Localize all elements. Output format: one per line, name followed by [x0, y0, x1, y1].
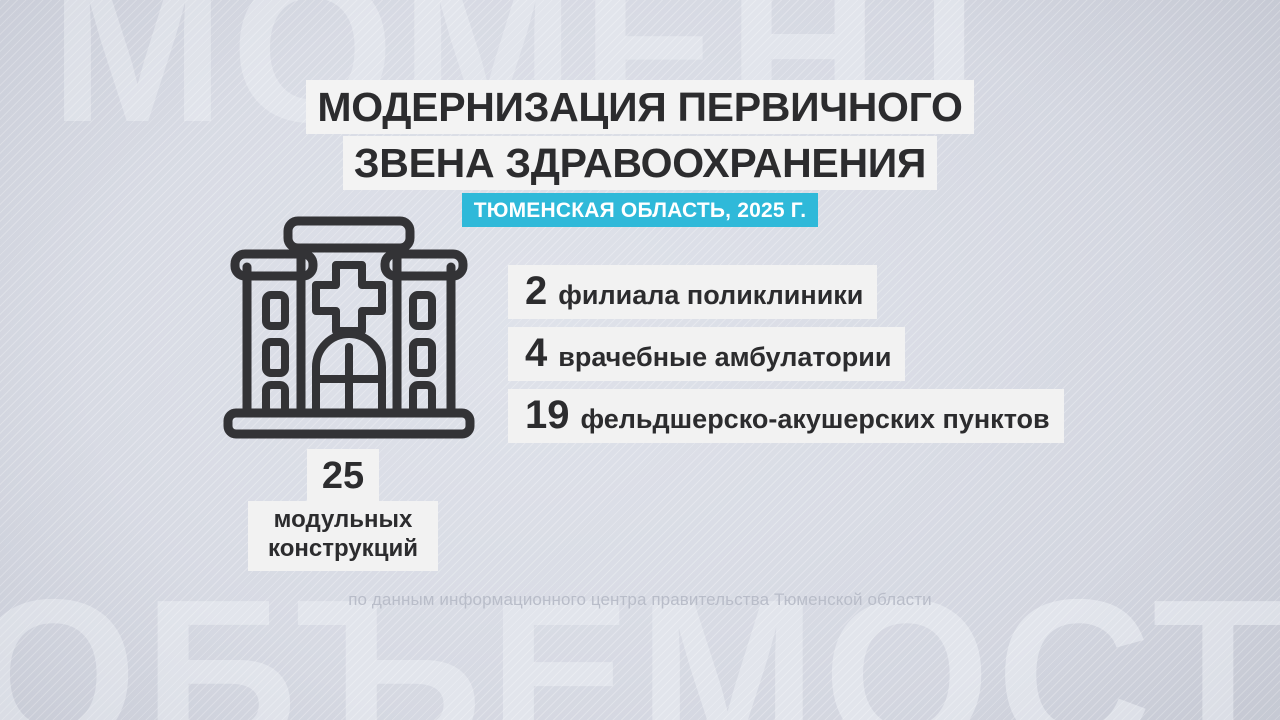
stat-label: фельдшерско-акушерских пунктов	[581, 406, 1050, 433]
hospital-building-icon	[218, 207, 480, 442]
modular-count: 25	[307, 449, 379, 502]
stat-number: 2	[525, 271, 547, 311]
title-block: МОДЕРНИЗАЦИЯ ПЕРВИЧНОГО ЗВЕНА ЗДРАВООХРА…	[0, 80, 1280, 227]
source-caption: по данным информационного центра правите…	[0, 590, 1280, 610]
modular-constructions-block: 25 модульных конструкций	[248, 449, 438, 571]
stat-number: 19	[525, 395, 570, 435]
stat-label: врачебные амбулатории	[558, 344, 891, 371]
subtitle-badge: ТЮМЕНСКАЯ ОБЛАСТЬ, 2025 Г.	[462, 193, 819, 227]
stat-row: 2 филиала поликлиники	[508, 265, 877, 319]
modular-label-line-2: конструкций	[268, 535, 418, 562]
stat-row: 4 врачебные амбулатории	[508, 327, 905, 381]
infographic-slide: МОМЕНТ ОБЪЕМОСТЬ МОДЕРНИЗАЦИЯ ПЕРВИЧНОГО…	[0, 0, 1280, 720]
modular-label-line-1: модульных	[274, 506, 413, 533]
stat-number: 4	[525, 333, 547, 373]
page-title-line-1: МОДЕРНИЗАЦИЯ ПЕРВИЧНОГО	[306, 80, 973, 134]
stat-row: 19 фельдшерско-акушерских пунктов	[508, 389, 1064, 443]
stats-list: 2 филиала поликлиники 4 врачебные амбула…	[508, 265, 1064, 443]
modular-label: модульных конструкций	[248, 501, 438, 571]
stat-label: филиала поликлиники	[558, 282, 863, 309]
page-title-line-2: ЗВЕНА ЗДРАВООХРАНЕНИЯ	[343, 136, 937, 190]
